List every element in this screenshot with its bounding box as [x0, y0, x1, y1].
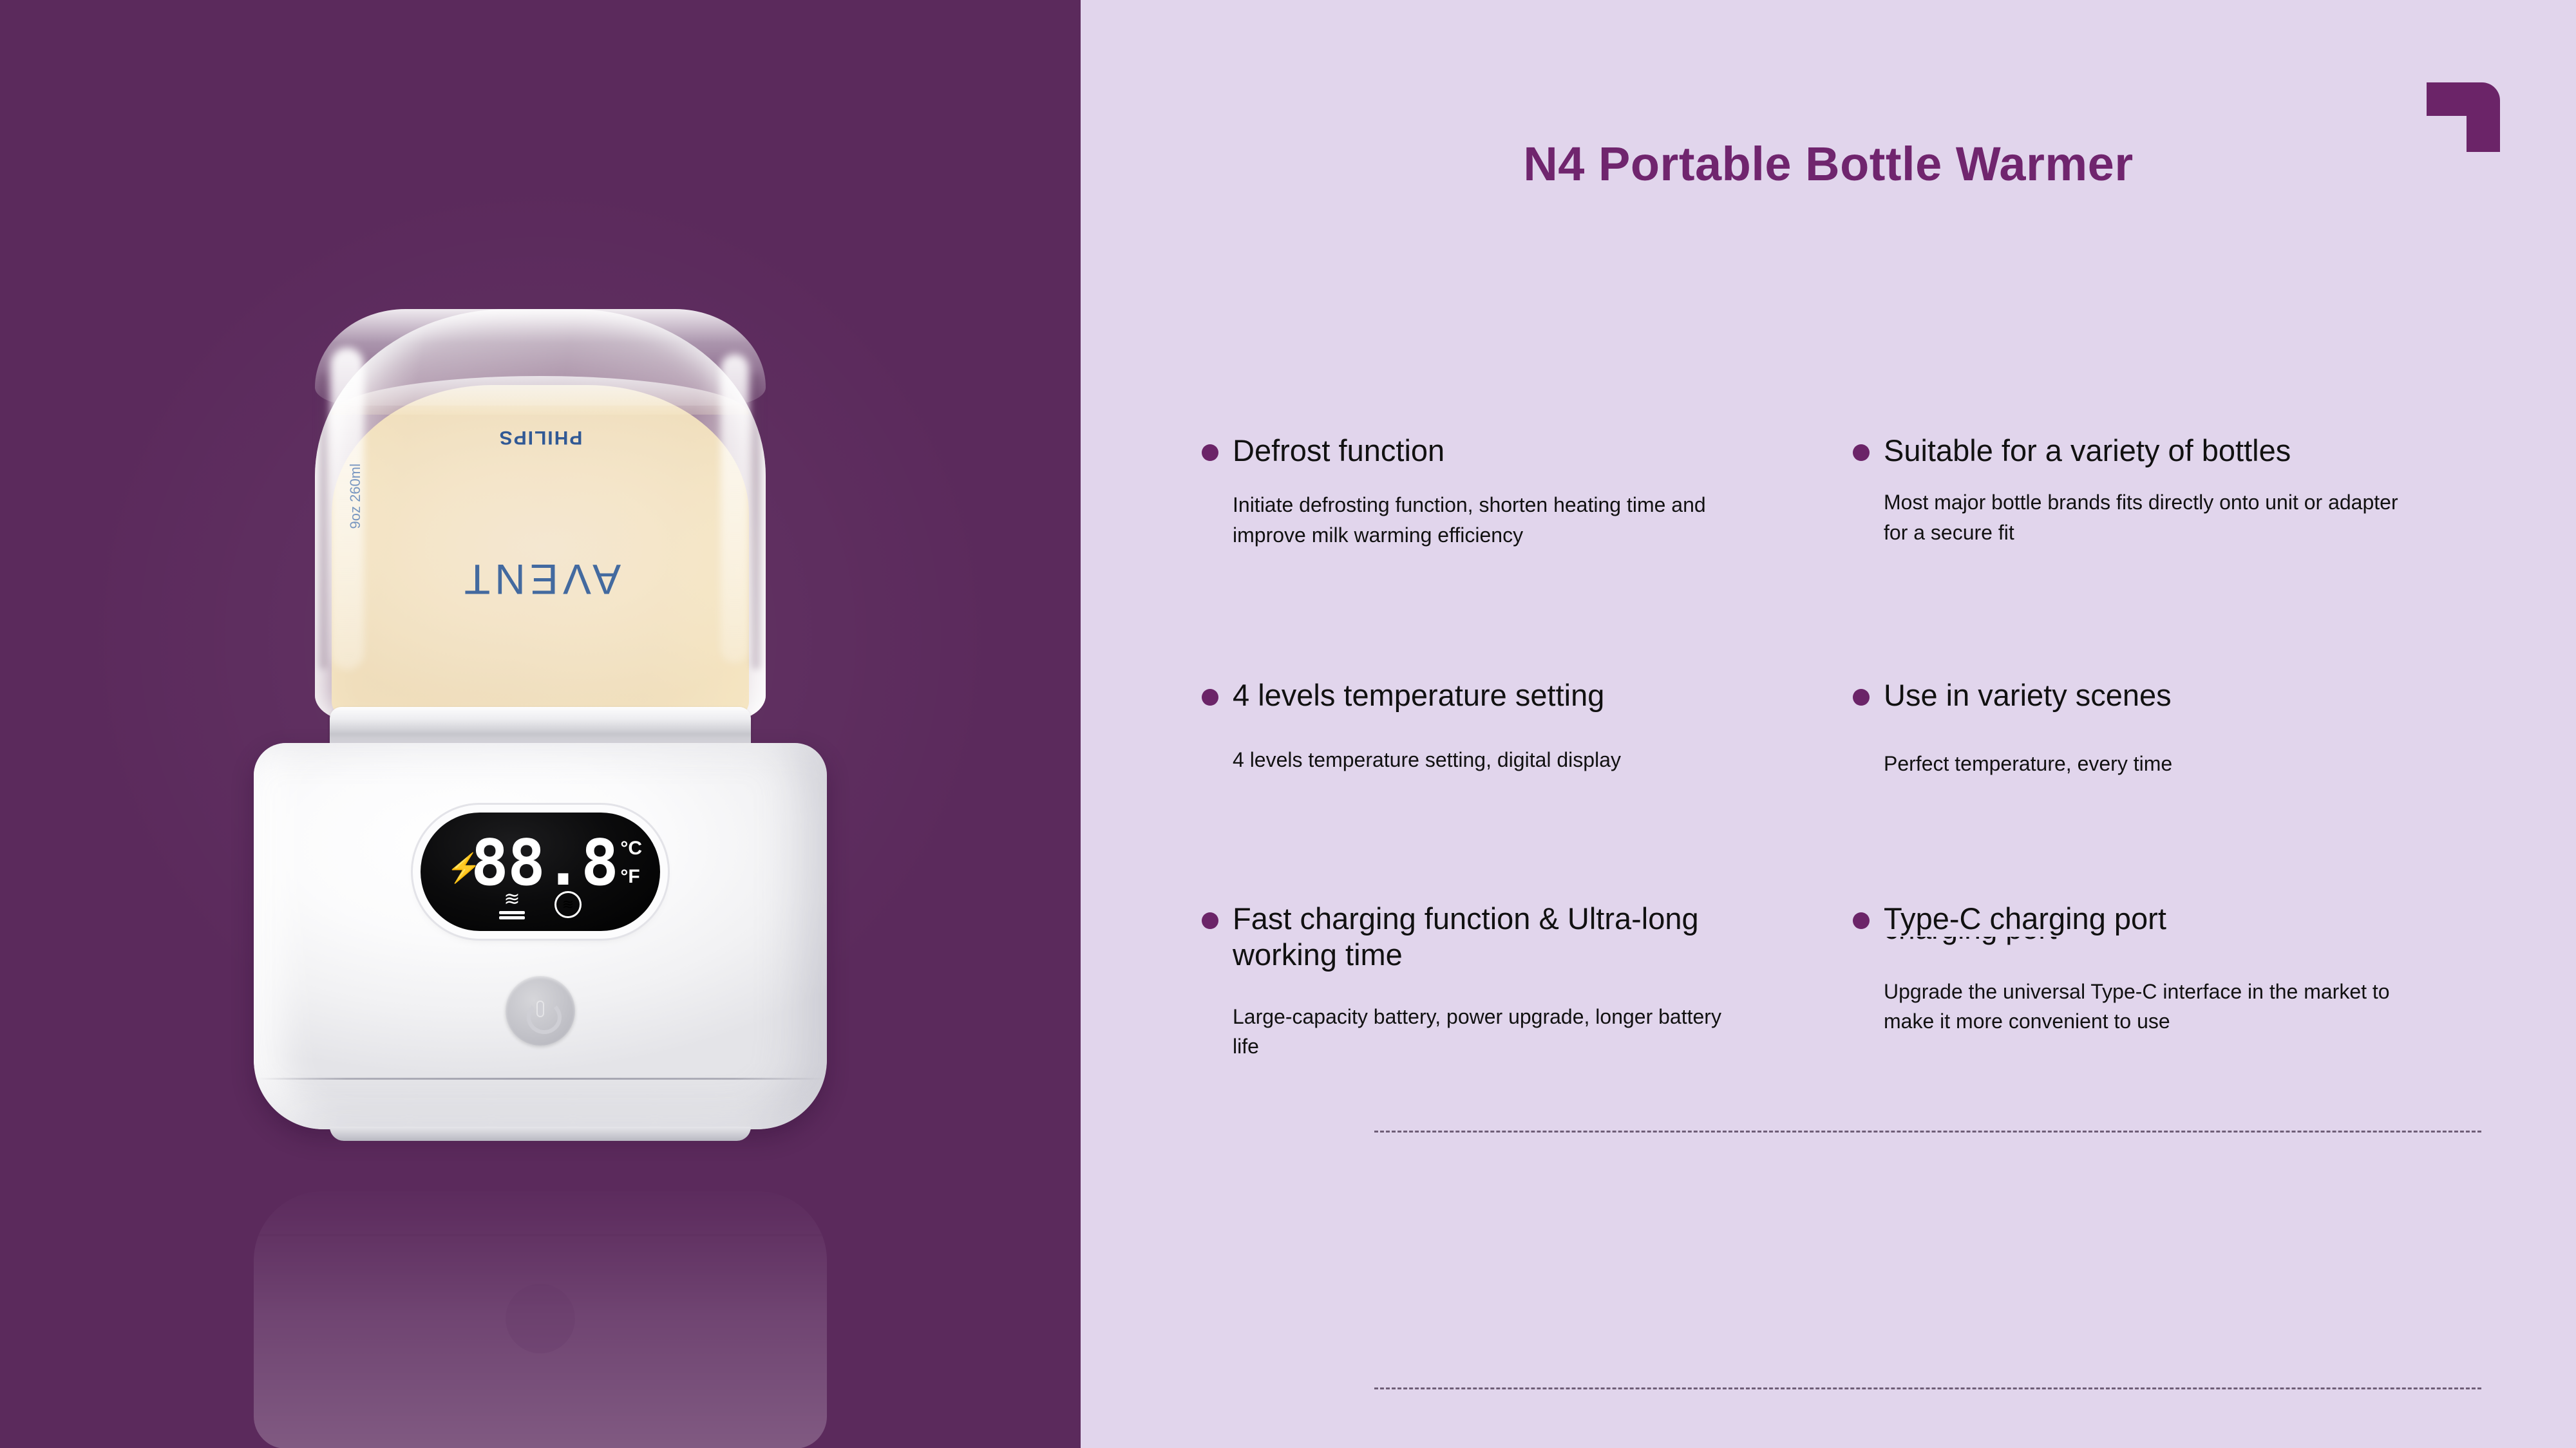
bullet-icon: [1853, 444, 1870, 461]
bottle-warmer-unit: ⚡ 88.8 °C °F ≋ ≋: [254, 707, 827, 1171]
display-icon-row: ≋ ≋: [421, 890, 660, 919]
page-title: N4 Portable Bottle Warmer: [1081, 136, 2576, 191]
feature-fast-charging: Fast charging function & Ultra-long work…: [1202, 901, 1853, 1061]
feature-heading: Type-C charging port: [1853, 901, 2465, 936]
bullet-icon: [1853, 912, 1870, 929]
warmer-foot: [330, 1127, 751, 1141]
bottle-edge-left: [319, 373, 328, 670]
unit-celsius-label: °C: [620, 834, 642, 863]
bullet-icon: [1853, 689, 1870, 706]
feature-title: Suitable for a variety of bottles: [1884, 433, 2291, 468]
features-grid: Defrost function Initiate defrosting fun…: [1202, 433, 2504, 1061]
feature-suitable-for-bottles: Suitable for a variety of bottles Most m…: [1853, 433, 2504, 550]
section-divider: [1374, 1131, 2481, 1133]
bullet-icon: [1202, 689, 1218, 706]
reflection-seam: [258, 1234, 823, 1236]
feature-variety-scenes: Use in variety scenes Perfect temperatur…: [1853, 677, 2504, 779]
warmer-body: [254, 743, 827, 1129]
feature-description: Upgrade the universal Type-C interface i…: [1884, 977, 2399, 1036]
power-icon: [525, 995, 556, 1026]
feature-description: Initiate defrosting function, shorten he…: [1233, 490, 1748, 549]
feature-heading: Defrost function: [1202, 433, 1814, 468]
feature-heading: Suitable for a variety of bottles: [1853, 433, 2465, 468]
product-image-panel: PHILIPS AVENT 9oz 260ml ⚡ 88.8 °C °F ≋ ≋: [0, 0, 1081, 1448]
feature-title-clipped-line: charging port: [1884, 937, 2465, 946]
feature-row: Defrost function Initiate defrosting fun…: [1202, 433, 2504, 550]
temperature-units: °C °F: [620, 834, 642, 891]
feature-heading: Use in variety scenes: [1853, 677, 2465, 713]
heat-waves-glyph: ≋: [504, 890, 520, 909]
bullet-icon: [1202, 912, 1218, 929]
feature-temperature-setting: 4 levels temperature setting 4 levels te…: [1202, 677, 1853, 779]
feature-description: 4 levels temperature setting, digital di…: [1233, 745, 1748, 775]
feature-heading: Fast charging function & Ultra-long work…: [1202, 901, 1814, 972]
bottle-brand-philips: PHILIPS: [315, 426, 766, 448]
feature-title: Fast charging function & Ultra-long work…: [1233, 901, 1761, 972]
baby-bottle: PHILIPS AVENT 9oz 260ml: [315, 309, 766, 721]
bottle-edge-right: [752, 373, 761, 670]
feature-title: Defrost function: [1233, 433, 1444, 468]
heat-plate-icon: ≋: [499, 890, 525, 919]
plate-bar-1: [499, 911, 525, 914]
feature-description: Most major bottle brands fits directly o…: [1884, 487, 2399, 547]
warmer-seam: [256, 1078, 824, 1080]
warm-circle-icon: ≋: [554, 891, 582, 918]
lightning-bolt-icon: ⚡: [446, 855, 463, 885]
led-display: ⚡ 88.8 °C °F ≋ ≋: [421, 813, 660, 931]
plate-bar-2: [499, 916, 525, 919]
feature-row: Fast charging function & Ultra-long work…: [1202, 901, 2504, 1061]
product-reflection: [254, 1172, 827, 1448]
unit-fahrenheit-label: °F: [620, 863, 642, 891]
bullet-icon: [1202, 444, 1218, 461]
bottle-brand-avent: AVENT: [315, 555, 766, 604]
feature-title: 4 levels temperature setting: [1233, 677, 1604, 713]
feature-title: Use in variety scenes: [1884, 677, 2172, 713]
feature-type-c-port: Type-C charging port charging port Upgra…: [1853, 901, 2504, 1061]
reflection-power-button: [506, 1284, 575, 1353]
bottle-measurement-scale: 9oz 260ml: [338, 464, 373, 529]
feature-title: Type-C charging port: [1884, 901, 2166, 936]
temperature-readout: 88.8: [471, 832, 618, 895]
feature-description: Large-capacity battery, power upgrade, l…: [1233, 1002, 1748, 1061]
bottle-highlight-right: [721, 354, 749, 663]
content-panel: N4 Portable Bottle Warmer Defrost functi…: [1081, 0, 2576, 1448]
feature-defrost-function: Defrost function Initiate defrosting fun…: [1202, 433, 1853, 550]
power-button[interactable]: [506, 976, 575, 1046]
feature-row: 4 levels temperature setting 4 levels te…: [1202, 677, 2504, 779]
section-divider: [1374, 1387, 2481, 1389]
feature-heading: 4 levels temperature setting: [1202, 677, 1814, 713]
feature-description: Perfect temperature, every time: [1884, 749, 2399, 778]
bottle-rim: [315, 309, 766, 406]
